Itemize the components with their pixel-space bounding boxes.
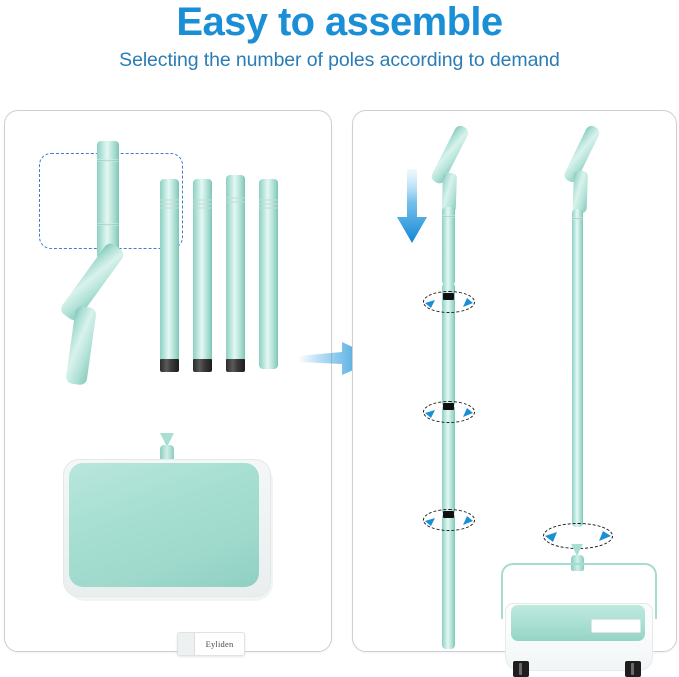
brand-plate: Eyliden (177, 632, 245, 656)
pole-lock-marker-3 (443, 511, 454, 518)
assembled-pole-segment-1 (442, 207, 455, 285)
pole-ring (97, 159, 119, 162)
pole-ring (160, 207, 179, 209)
pole-end-cap-2 (193, 359, 212, 372)
pole-ring (259, 207, 278, 209)
pole-ring (259, 199, 278, 201)
pole-joint-ring (442, 215, 455, 218)
pole-ring (193, 199, 212, 201)
short-bent-handle-lower (573, 171, 588, 213)
wheel-right-highlight (631, 663, 634, 675)
header: Easy to assemble Selecting the number of… (0, 0, 679, 92)
power-switch[interactable] (178, 633, 195, 655)
short-assembled-pole (572, 209, 583, 527)
pole-lock-marker-1 (443, 293, 454, 300)
brand-label: Eyliden (195, 639, 244, 649)
pole-end-cap-3 (226, 359, 245, 372)
pole-ring (226, 197, 245, 199)
pole-ring (193, 207, 212, 209)
pole-lock-marker-2 (443, 403, 454, 410)
base-top-cover (69, 463, 259, 587)
bent-handle-piece (65, 249, 175, 379)
pole-joint-ring (572, 217, 583, 220)
page-subtitle: Selecting the number of poles according … (0, 47, 679, 73)
wheel-left-highlight (519, 663, 522, 675)
insert-down-arrow (395, 169, 429, 249)
assembled-configurations-panel (352, 110, 677, 652)
pole-ring (160, 203, 179, 205)
pole-end-cap-1 (160, 359, 179, 372)
pole-ring (160, 199, 179, 201)
page-title: Easy to assemble (0, 0, 679, 44)
pole-ring (97, 223, 119, 226)
infographic-stage: Easy to assemble Selecting the number of… (0, 0, 679, 659)
assembled-pole-segment-4 (442, 513, 455, 649)
straight-pole-3 (226, 175, 245, 371)
pole-ring (193, 203, 212, 205)
assembled-brand-label (591, 619, 641, 633)
pole-ring (226, 201, 245, 203)
pole-ring (259, 203, 278, 205)
disassembled-parts-panel: Eyliden (4, 110, 332, 652)
